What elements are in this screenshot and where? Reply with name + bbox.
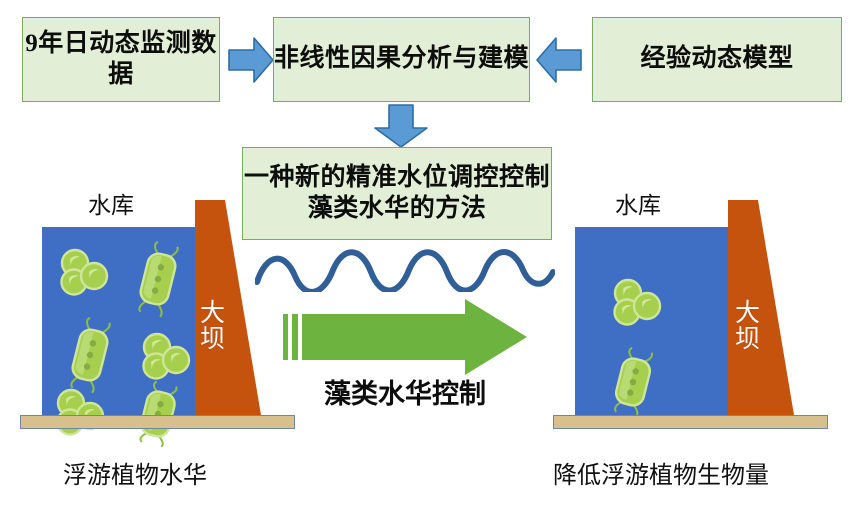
reservoir-scene-after: 水库 (545, 186, 845, 438)
diagram-canvas: 9年日动态监测数据 非线性因果分析与建模 经验动态模型 一种新的精准水位调控控制… (0, 0, 860, 510)
arrow-left-icon (536, 36, 582, 84)
flow-box-model: 经验动态模型 (592, 17, 842, 102)
flow-box-analysis-label: 非线性因果分析与建模 (274, 44, 529, 75)
reservoir-label-before: 水库 (88, 186, 134, 220)
algae-round-cluster (140, 333, 192, 383)
water-wave-icon (255, 246, 555, 297)
algae-round-cluster (58, 249, 110, 299)
process-arrow-icon (283, 298, 528, 376)
reservoir-label-after: 水库 (615, 186, 661, 220)
process-arrow-label: 藻类水华控制 (255, 372, 555, 411)
dam-label-before: 大坝 (200, 301, 225, 352)
arrow-right-icon (228, 36, 274, 84)
scene-caption-after: 降低浮游植物生物量 (553, 455, 769, 490)
scene-caption-before: 浮游植物水华 (63, 455, 207, 490)
flow-box-analysis: 非线性因果分析与建模 (273, 17, 530, 102)
sediment-bed-before (20, 415, 295, 429)
algae-round-cluster (54, 389, 106, 439)
dam-label-after: 大坝 (735, 301, 760, 352)
flow-box-data-label: 9年日动态监测数据 (23, 29, 219, 90)
flow-box-model-label: 经验动态模型 (640, 44, 793, 75)
flow-box-data: 9年日动态监测数据 (22, 17, 220, 102)
arrow-down-icon (372, 104, 430, 148)
sediment-bed-after (553, 415, 828, 429)
algae-round-cluster (611, 279, 663, 329)
